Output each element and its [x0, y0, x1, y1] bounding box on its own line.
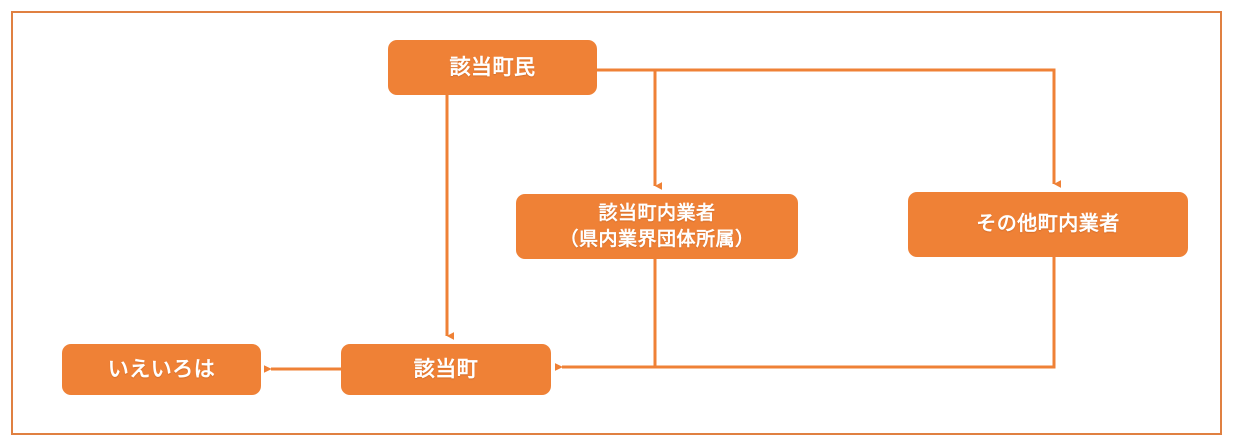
node-town[interactable]: 該当町: [341, 344, 551, 395]
node-other-business-label: その他町内業者: [976, 211, 1120, 237]
diagram-canvas: 該当町民 該当町内業者 （県内業界団体所属） その他町内業者 該当町 いえいろは: [0, 0, 1233, 447]
node-town-label: 該当町: [414, 356, 479, 384]
node-ieiroha[interactable]: いえいろは: [62, 344, 261, 395]
node-local-business-label: 該当町内業者 （県内業界団体所属）: [559, 201, 754, 251]
node-other-business[interactable]: その他町内業者: [908, 192, 1188, 257]
edge-other-biz-to-town: [562, 257, 1054, 367]
node-local-business[interactable]: 該当町内業者 （県内業界団体所属）: [516, 194, 798, 259]
edge-resident-to-other-biz: [597, 70, 1054, 184]
node-ieiroha-label: いえいろは: [108, 356, 216, 384]
edge-local-biz-to-town: [562, 259, 655, 367]
node-resident[interactable]: 該当町民: [388, 40, 597, 95]
node-resident-label: 該当町民: [450, 54, 536, 82]
